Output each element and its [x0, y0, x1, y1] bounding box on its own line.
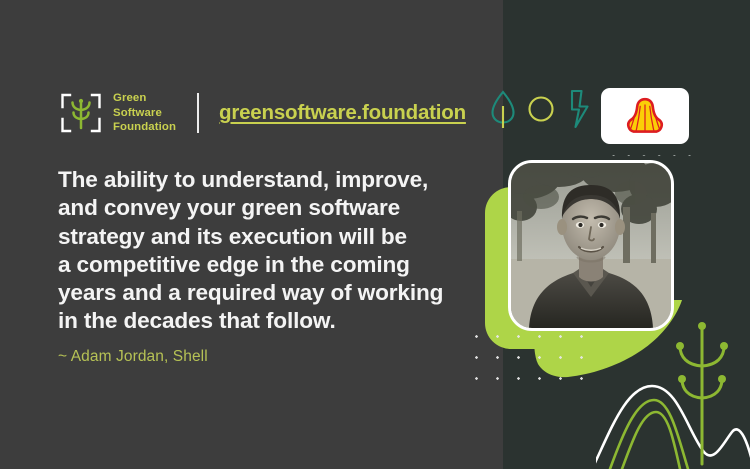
- dot-grid-pattern: [463, 323, 593, 391]
- shell-pecten-logo: [625, 97, 665, 135]
- adam-jordan-portrait-photo: [508, 160, 674, 331]
- brand-header: Green Software Foundation greensoftware.…: [58, 86, 466, 140]
- quote-line: in the decades that follow.: [58, 307, 448, 335]
- lightning-bolt-icon: [566, 88, 592, 130]
- quote-attribution: ~ Adam Jordan, Shell: [58, 348, 208, 366]
- dot-row-pattern: [604, 146, 696, 156]
- brand-wordmark-line-1: Green: [113, 91, 176, 106]
- quote-line: a competitive edge in the coming: [58, 251, 448, 279]
- circle-outline-icon: [526, 88, 556, 130]
- website-url[interactable]: greensoftware.foundation: [219, 101, 466, 125]
- quote-line: and convey your green software: [58, 194, 448, 222]
- brand-wordmark: Green Software Foundation: [113, 91, 176, 135]
- vertical-divider: [197, 93, 199, 133]
- leaf-drop-icon: [489, 88, 517, 130]
- sprout-plant-icon: [654, 318, 750, 469]
- decorative-icon-row: [489, 88, 595, 130]
- green-software-foundation-tree-icon: [58, 90, 104, 136]
- quote-card: Green Software Foundation greensoftware.…: [0, 0, 750, 469]
- quote-line: The ability to understand, improve,: [58, 166, 448, 194]
- quote-text: The ability to understand, improve, and …: [58, 166, 448, 336]
- brand-wordmark-line-2: Software: [113, 106, 176, 121]
- quote-line: years and a required way of working: [58, 279, 448, 307]
- brand-wordmark-line-3: Foundation: [113, 120, 176, 135]
- quote-line: strategy and its execution will be: [58, 223, 448, 251]
- shell-logo-card: [601, 88, 689, 144]
